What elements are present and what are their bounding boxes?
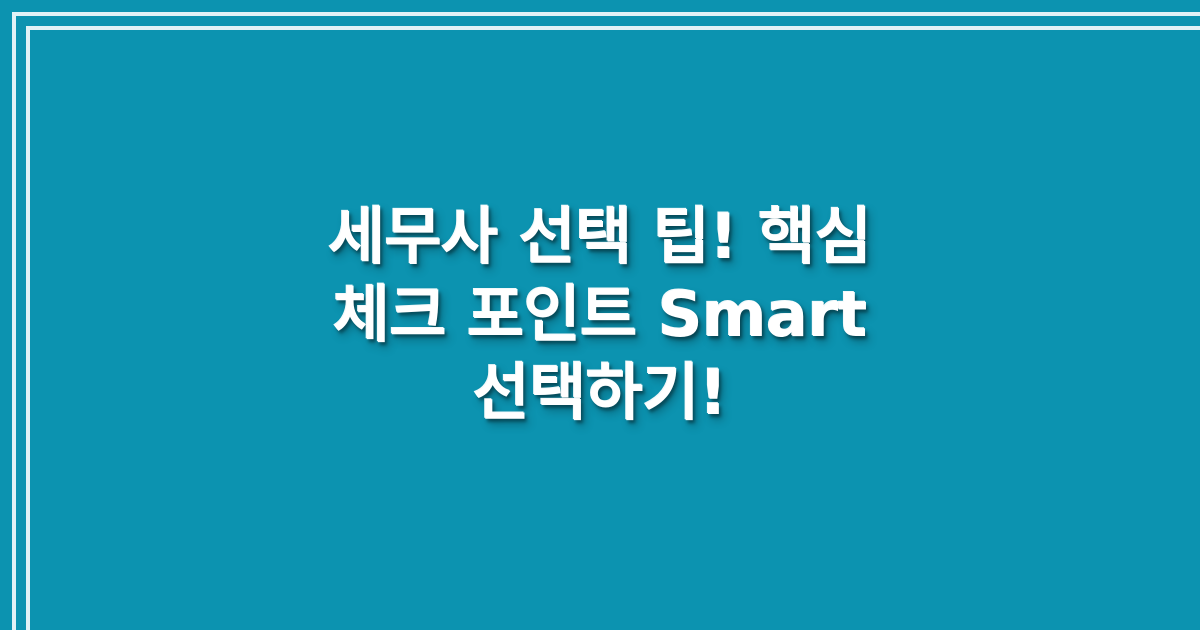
thumbnail-card: 세무사 선택 팁! 핵심 체크 포인트 Smart 선택하기! — [0, 0, 1200, 630]
title-line-3: 선택하기! — [90, 354, 1110, 432]
title-line-1: 세무사 선택 팁! 핵심 — [90, 198, 1110, 276]
title-line-2: 체크 포인트 Smart — [90, 276, 1110, 354]
title-block: 세무사 선택 팁! 핵심 체크 포인트 Smart 선택하기! — [0, 0, 1200, 630]
